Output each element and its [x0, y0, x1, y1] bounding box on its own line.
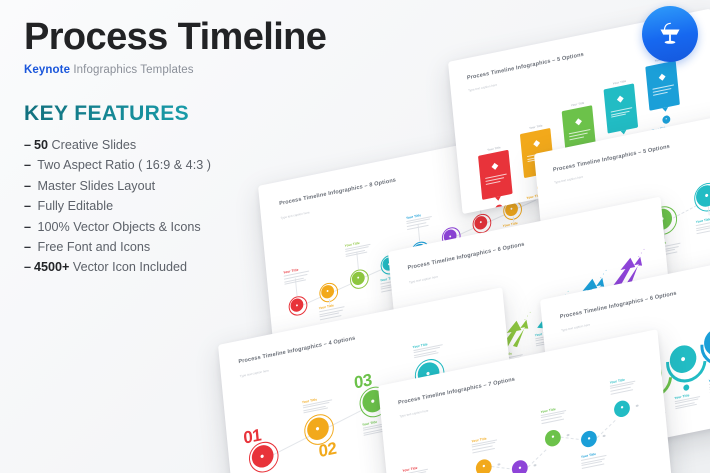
feature-highlight: 4500+ [34, 260, 73, 274]
step-icon: ● [479, 220, 482, 225]
step-icon: ◆ [479, 157, 510, 174]
step-icon: ● [680, 354, 686, 364]
accent-dot [641, 252, 642, 254]
feature-highlight: 50 [34, 138, 52, 152]
slide-subtitle: Type text caption here [409, 274, 438, 284]
connector-line [328, 407, 365, 427]
feature-text: Free Font and Icons [34, 240, 150, 254]
step-icon: ● [370, 397, 375, 405]
step-circle: ● [662, 115, 671, 125]
key-features-heading: KEY FEATURES [24, 102, 354, 126]
connector-dot [567, 433, 570, 436]
step-icon: ● [518, 466, 522, 472]
step-icon: ● [326, 289, 329, 294]
feature-text: Fully Editable [34, 199, 113, 213]
accent-dot [527, 315, 528, 317]
feature-item: –50 Creative Slides [24, 135, 354, 155]
step-circle: ● [614, 399, 631, 418]
step-icon: ◆ [646, 68, 677, 85]
step-body-text [485, 174, 508, 187]
step-icon: ● [587, 436, 591, 442]
step-dot [683, 384, 689, 391]
slide-title: Process Timeline Infographics – 4 Option… [238, 336, 355, 366]
accent-dot [567, 290, 568, 291]
connector-line [528, 450, 547, 468]
bullet-dash: – [24, 158, 31, 172]
step-circle: ● [475, 458, 492, 473]
connector-dot [636, 404, 639, 407]
step-icon: ● [357, 275, 360, 280]
slide-subtitle: Type text caption here [399, 409, 428, 419]
feature-item: – Fully Editable [24, 196, 354, 216]
step-icon: ● [260, 452, 265, 460]
feature-text: Creative Slides [52, 138, 137, 152]
bullet-dash: – [24, 199, 31, 213]
step-icon: ● [482, 464, 486, 470]
feature-item: – Two Aspect Ratio ( 16:9 & 4:3 ) [24, 155, 354, 175]
bullet-dash: – [24, 260, 31, 274]
page-title: Process Timeline [24, 18, 354, 56]
step-banner: ◆ [646, 61, 681, 111]
accent-dot [605, 269, 606, 270]
connector-line [673, 204, 697, 217]
podium-icon [655, 19, 685, 49]
slide-title: Process Timeline Infographics – 7 Option… [398, 376, 515, 406]
step-circle: ● [581, 430, 598, 449]
connector-dot [534, 464, 537, 467]
accent-dot [643, 248, 644, 249]
step-icon: ◆ [521, 135, 552, 152]
accent-dot [530, 311, 531, 312]
bullet-dash: – [24, 220, 31, 234]
features-list: –50 Creative Slides– Two Aspect Ratio ( … [24, 135, 354, 278]
accent-dot [603, 273, 604, 275]
feature-item: – Master Slides Layout [24, 176, 354, 196]
step-circle: ● [511, 459, 528, 473]
page-subtitle: Keynote Infographics Templates [24, 64, 354, 76]
bullet-dash: – [24, 179, 31, 193]
feature-text: 100% Vector Objects & Icons [34, 220, 201, 234]
banner-tip [662, 108, 668, 113]
step-icon: ◆ [605, 90, 636, 107]
feature-text: Master Slides Layout [34, 179, 155, 193]
connector-line [273, 435, 310, 455]
keynote-app-icon[interactable] [642, 6, 698, 62]
slide-title: Process Timeline Infographics – 6 Option… [560, 290, 677, 320]
slide-subtitle: Type text caption here [554, 175, 583, 185]
banner-tip [495, 197, 501, 202]
feature-text: Two Aspect Ratio ( 16:9 & 4:3 ) [34, 158, 211, 172]
feature-text: Vector Icon Included [73, 260, 187, 274]
step-banner: ◆ [604, 83, 639, 133]
feature-item: – Free Font and Icons [24, 237, 354, 257]
step-icon: ● [510, 207, 513, 212]
step-icon: ● [620, 405, 624, 411]
slide-title: Process Timeline Infographics – 5 Option… [553, 143, 670, 173]
info-panel: Process Timeline Keynote Infographics Te… [24, 18, 354, 278]
bullet-dash: – [24, 138, 31, 152]
poster-root: Process Timeline Infographics – 8 Option… [0, 0, 710, 473]
slide-subtitle: Type text caption here [240, 368, 269, 378]
slide-title: Process Timeline Infographics – 6 Option… [407, 242, 524, 272]
step-body-text [652, 85, 675, 98]
bullet-dash: – [24, 240, 31, 254]
feature-item: –4500+ Vector Icon Included [24, 257, 354, 277]
step-circle: ● [544, 428, 561, 447]
step-body-text [610, 107, 633, 120]
step-icon: ● [295, 303, 298, 308]
connector-line [597, 420, 616, 438]
brand-label: Keynote [24, 64, 70, 76]
step-icon: ● [551, 435, 555, 441]
connector-dot [603, 435, 606, 438]
connector-dot [498, 463, 501, 466]
step-icon: ● [315, 424, 320, 432]
step-icon: ● [665, 119, 667, 122]
slide-subtitle: Type text caption here [561, 323, 590, 333]
step-icon: ◆ [563, 113, 594, 130]
slide-canvas: ●Your Title●Your Title●Your Title●Your T… [396, 376, 658, 473]
subtitle-text: Infographics Templates [73, 64, 193, 76]
step-body-text [569, 129, 592, 142]
step-banner: ◆ [478, 150, 513, 200]
feature-item: – 100% Vector Objects & Icons [24, 217, 354, 237]
step-icon: ● [704, 192, 709, 200]
